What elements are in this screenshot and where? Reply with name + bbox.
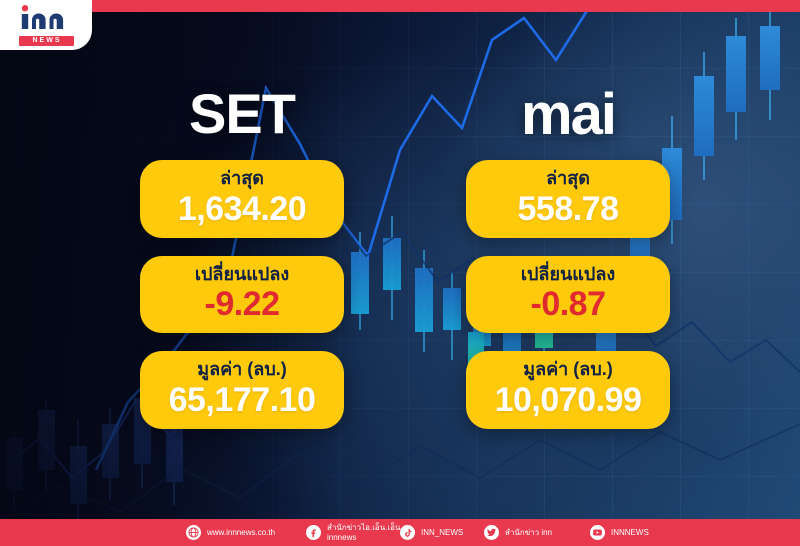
card-label: ล่าสุด [472, 167, 664, 190]
card-value: 10,070.99 [472, 381, 664, 420]
footer-twitter-text: สำนักข่าว inn [505, 528, 552, 537]
card-value: 1,634.20 [146, 190, 338, 229]
card-mai-change[interactable]: เปลี่ยนแปลง -0.87 [466, 256, 670, 334]
card-label: ล่าสุด [146, 167, 338, 190]
card-mai-value[interactable]: มูลค่า (ลบ.) 10,070.99 [466, 351, 670, 429]
footer-website-text: www.innnews.co.th [207, 528, 275, 537]
footer-youtube-text: INNNEWS [611, 528, 649, 537]
footer-facebook-text: สำนักข่าวไอ.เอ็น.เอ็น innnews [327, 523, 400, 542]
card-mai-latest[interactable]: ล่าสุด 558.78 [466, 160, 670, 238]
globe-icon [186, 525, 201, 540]
card-label: มูลค่า (ลบ.) [472, 358, 664, 381]
card-label: มูลค่า (ลบ.) [146, 358, 338, 381]
infographic-stage: NEWS SET ล่าสุด 1,634.20 เปลี่ยนแปลง -9.… [0, 0, 800, 546]
card-value: 65,177.10 [146, 381, 338, 420]
facebook-icon [306, 525, 321, 540]
card-set-change[interactable]: เปลี่ยนแปลง -9.22 [140, 256, 344, 334]
footer-youtube[interactable]: INNNEWS [590, 525, 649, 540]
twitter-icon [484, 525, 499, 540]
footer-facebook-line1: สำนักข่าวไอ.เอ็น.เอ็น [327, 523, 400, 532]
footer-twitter[interactable]: สำนักข่าว inn [484, 525, 552, 540]
footer-tiktok-text: INN_NEWS [421, 528, 463, 537]
index-title-mai: mai [438, 86, 698, 148]
footer-social-bar: www.innnews.co.th สำนักข่าวไอ.เอ็น.เอ็น … [0, 519, 800, 546]
youtube-icon [590, 525, 605, 540]
footer-website[interactable]: www.innnews.co.th [186, 525, 275, 540]
index-column-mai: mai ล่าสุด 558.78 เปลี่ยนแปลง -0.87 มูลค… [438, 86, 698, 447]
card-value: -0.87 [472, 285, 664, 324]
index-title-set: SET [112, 86, 372, 148]
tiktok-icon [400, 525, 415, 540]
top-accent-bar [0, 0, 800, 12]
card-set-value[interactable]: มูลค่า (ลบ.) 65,177.10 [140, 351, 344, 429]
card-label: เปลี่ยนแปลง [472, 263, 664, 286]
footer-tiktok[interactable]: INN_NEWS [400, 525, 463, 540]
inn-news-logo[interactable]: NEWS [0, 0, 92, 50]
card-value: -9.22 [146, 285, 338, 324]
card-value: 558.78 [472, 190, 664, 229]
index-column-set: SET ล่าสุด 1,634.20 เปลี่ยนแปลง -9.22 มู… [112, 86, 372, 447]
logo-wordmark-icon [20, 5, 72, 34]
card-label: เปลี่ยนแปลง [146, 263, 338, 286]
logo-news-badge: NEWS [19, 36, 74, 46]
footer-facebook-line2: innnews [327, 533, 400, 542]
footer-facebook[interactable]: สำนักข่าวไอ.เอ็น.เอ็น innnews [306, 523, 400, 542]
card-set-latest[interactable]: ล่าสุด 1,634.20 [140, 160, 344, 238]
